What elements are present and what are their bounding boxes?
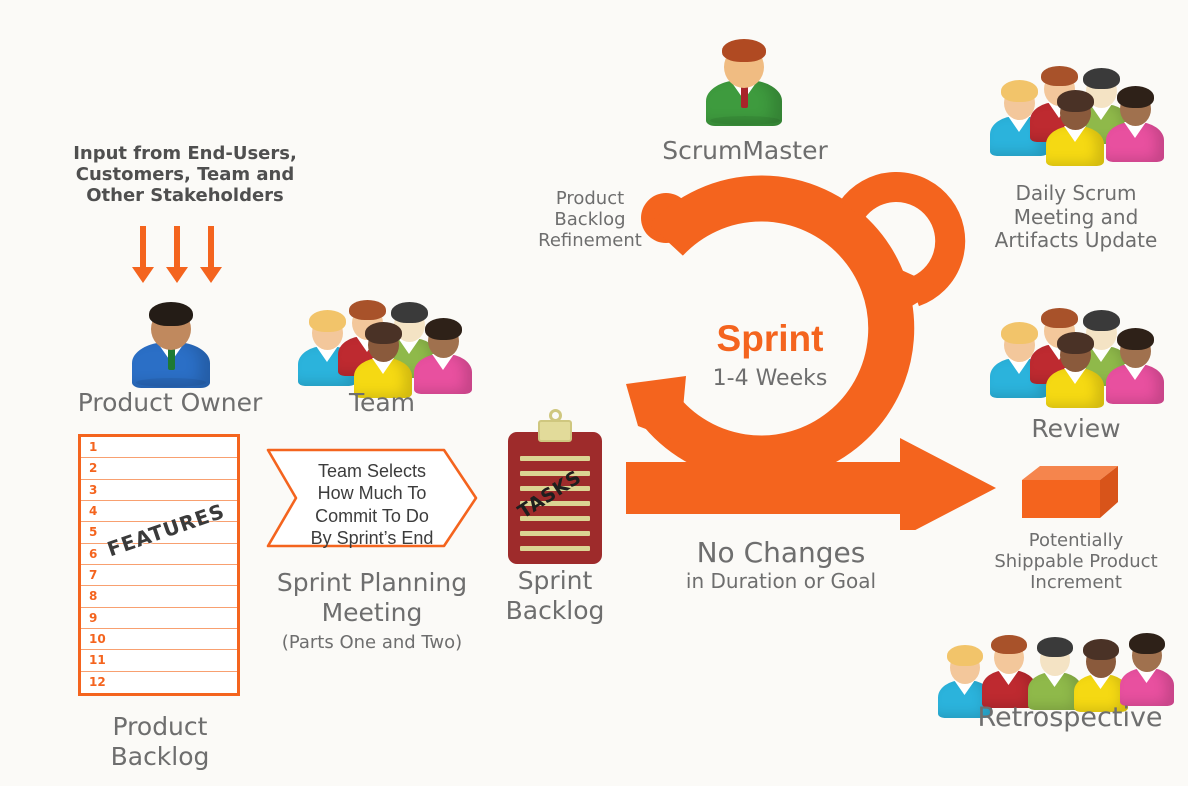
input-arrow-1 bbox=[140, 226, 146, 268]
row-number: 10 bbox=[89, 632, 106, 646]
product-increment-box bbox=[1022, 466, 1118, 518]
product-owner-avatar bbox=[128, 298, 214, 388]
no-changes-subtitle: in Duration or Goal bbox=[636, 570, 926, 594]
row-number: 11 bbox=[89, 653, 106, 667]
retrospective-label: Retrospective bbox=[950, 702, 1188, 734]
sprint-planning-label: Sprint Planning Meeting bbox=[262, 568, 482, 627]
review-avatar-group bbox=[986, 300, 1166, 410]
person-dark-pink bbox=[412, 314, 474, 392]
row-number: 2 bbox=[89, 461, 97, 475]
product-increment-label: Potentially Shippable Product Increment bbox=[968, 530, 1184, 594]
product-owner-label: Product Owner bbox=[50, 388, 290, 418]
sprint-center-text: Sprint 1-4 Weeks bbox=[620, 0, 920, 420]
sprint-title: Sprint bbox=[620, 318, 920, 360]
table-row: 11 bbox=[81, 650, 237, 671]
person-dark-pink bbox=[1104, 82, 1166, 160]
table-row: 10 bbox=[81, 629, 237, 650]
sprint-planning-callout: Team Selects How Much To Commit To Do By… bbox=[266, 448, 478, 548]
input-arrow-3 bbox=[208, 226, 214, 268]
clipboard-ring bbox=[549, 409, 562, 422]
row-number: 4 bbox=[89, 504, 97, 518]
person-dark-pink bbox=[1118, 630, 1176, 704]
scrum-diagram: Input from End-Users, Customers, Team an… bbox=[0, 0, 1188, 786]
row-number: 7 bbox=[89, 568, 97, 582]
person-dark-yellow bbox=[1044, 328, 1106, 406]
table-row: 1 bbox=[81, 437, 237, 458]
input-arrow-2 bbox=[174, 226, 180, 268]
row-number: 6 bbox=[89, 547, 97, 561]
team-label: Team bbox=[292, 388, 472, 418]
row-number: 5 bbox=[89, 525, 97, 539]
row-number: 1 bbox=[89, 440, 97, 454]
table-row: 8 bbox=[81, 586, 237, 607]
product-backlog-table: 1 2 3 4 5 6 7 8 9 10 11 12 bbox=[78, 434, 240, 696]
review-label: Review bbox=[970, 414, 1182, 444]
sprint-backlog-label: Sprint Backlog bbox=[465, 566, 645, 625]
table-row: 2 bbox=[81, 458, 237, 479]
table-row: 7 bbox=[81, 565, 237, 586]
person-dark-pink bbox=[1104, 324, 1166, 402]
person-dark-yellow bbox=[352, 318, 414, 396]
table-row: 6 bbox=[81, 544, 237, 565]
row-number: 12 bbox=[89, 675, 106, 689]
clipboard-clasp bbox=[538, 420, 572, 442]
stakeholder-input-note: Input from End-Users, Customers, Team an… bbox=[50, 143, 320, 207]
no-changes-title: No Changes bbox=[636, 536, 926, 569]
row-number: 3 bbox=[89, 483, 97, 497]
product-backlog-label: Product Backlog bbox=[50, 712, 270, 771]
sprint-duration: 1-4 Weeks bbox=[620, 366, 920, 391]
person-dark-yellow bbox=[1044, 86, 1106, 164]
team-avatar-group bbox=[294, 294, 474, 394]
table-row: 3 bbox=[81, 480, 237, 501]
sprint-planning-sublabel: (Parts One and Two) bbox=[262, 632, 482, 653]
row-number: 8 bbox=[89, 589, 97, 603]
table-row: 9 bbox=[81, 608, 237, 629]
sprint-planning-callout-text: Team Selects How Much To Commit To Do By… bbox=[266, 460, 478, 549]
daily-scrum-label: Daily Scrum Meeting and Artifacts Update bbox=[970, 182, 1182, 253]
daily-scrum-avatar-group bbox=[986, 58, 1166, 168]
table-row: 12 bbox=[81, 672, 237, 693]
row-number: 9 bbox=[89, 611, 97, 625]
